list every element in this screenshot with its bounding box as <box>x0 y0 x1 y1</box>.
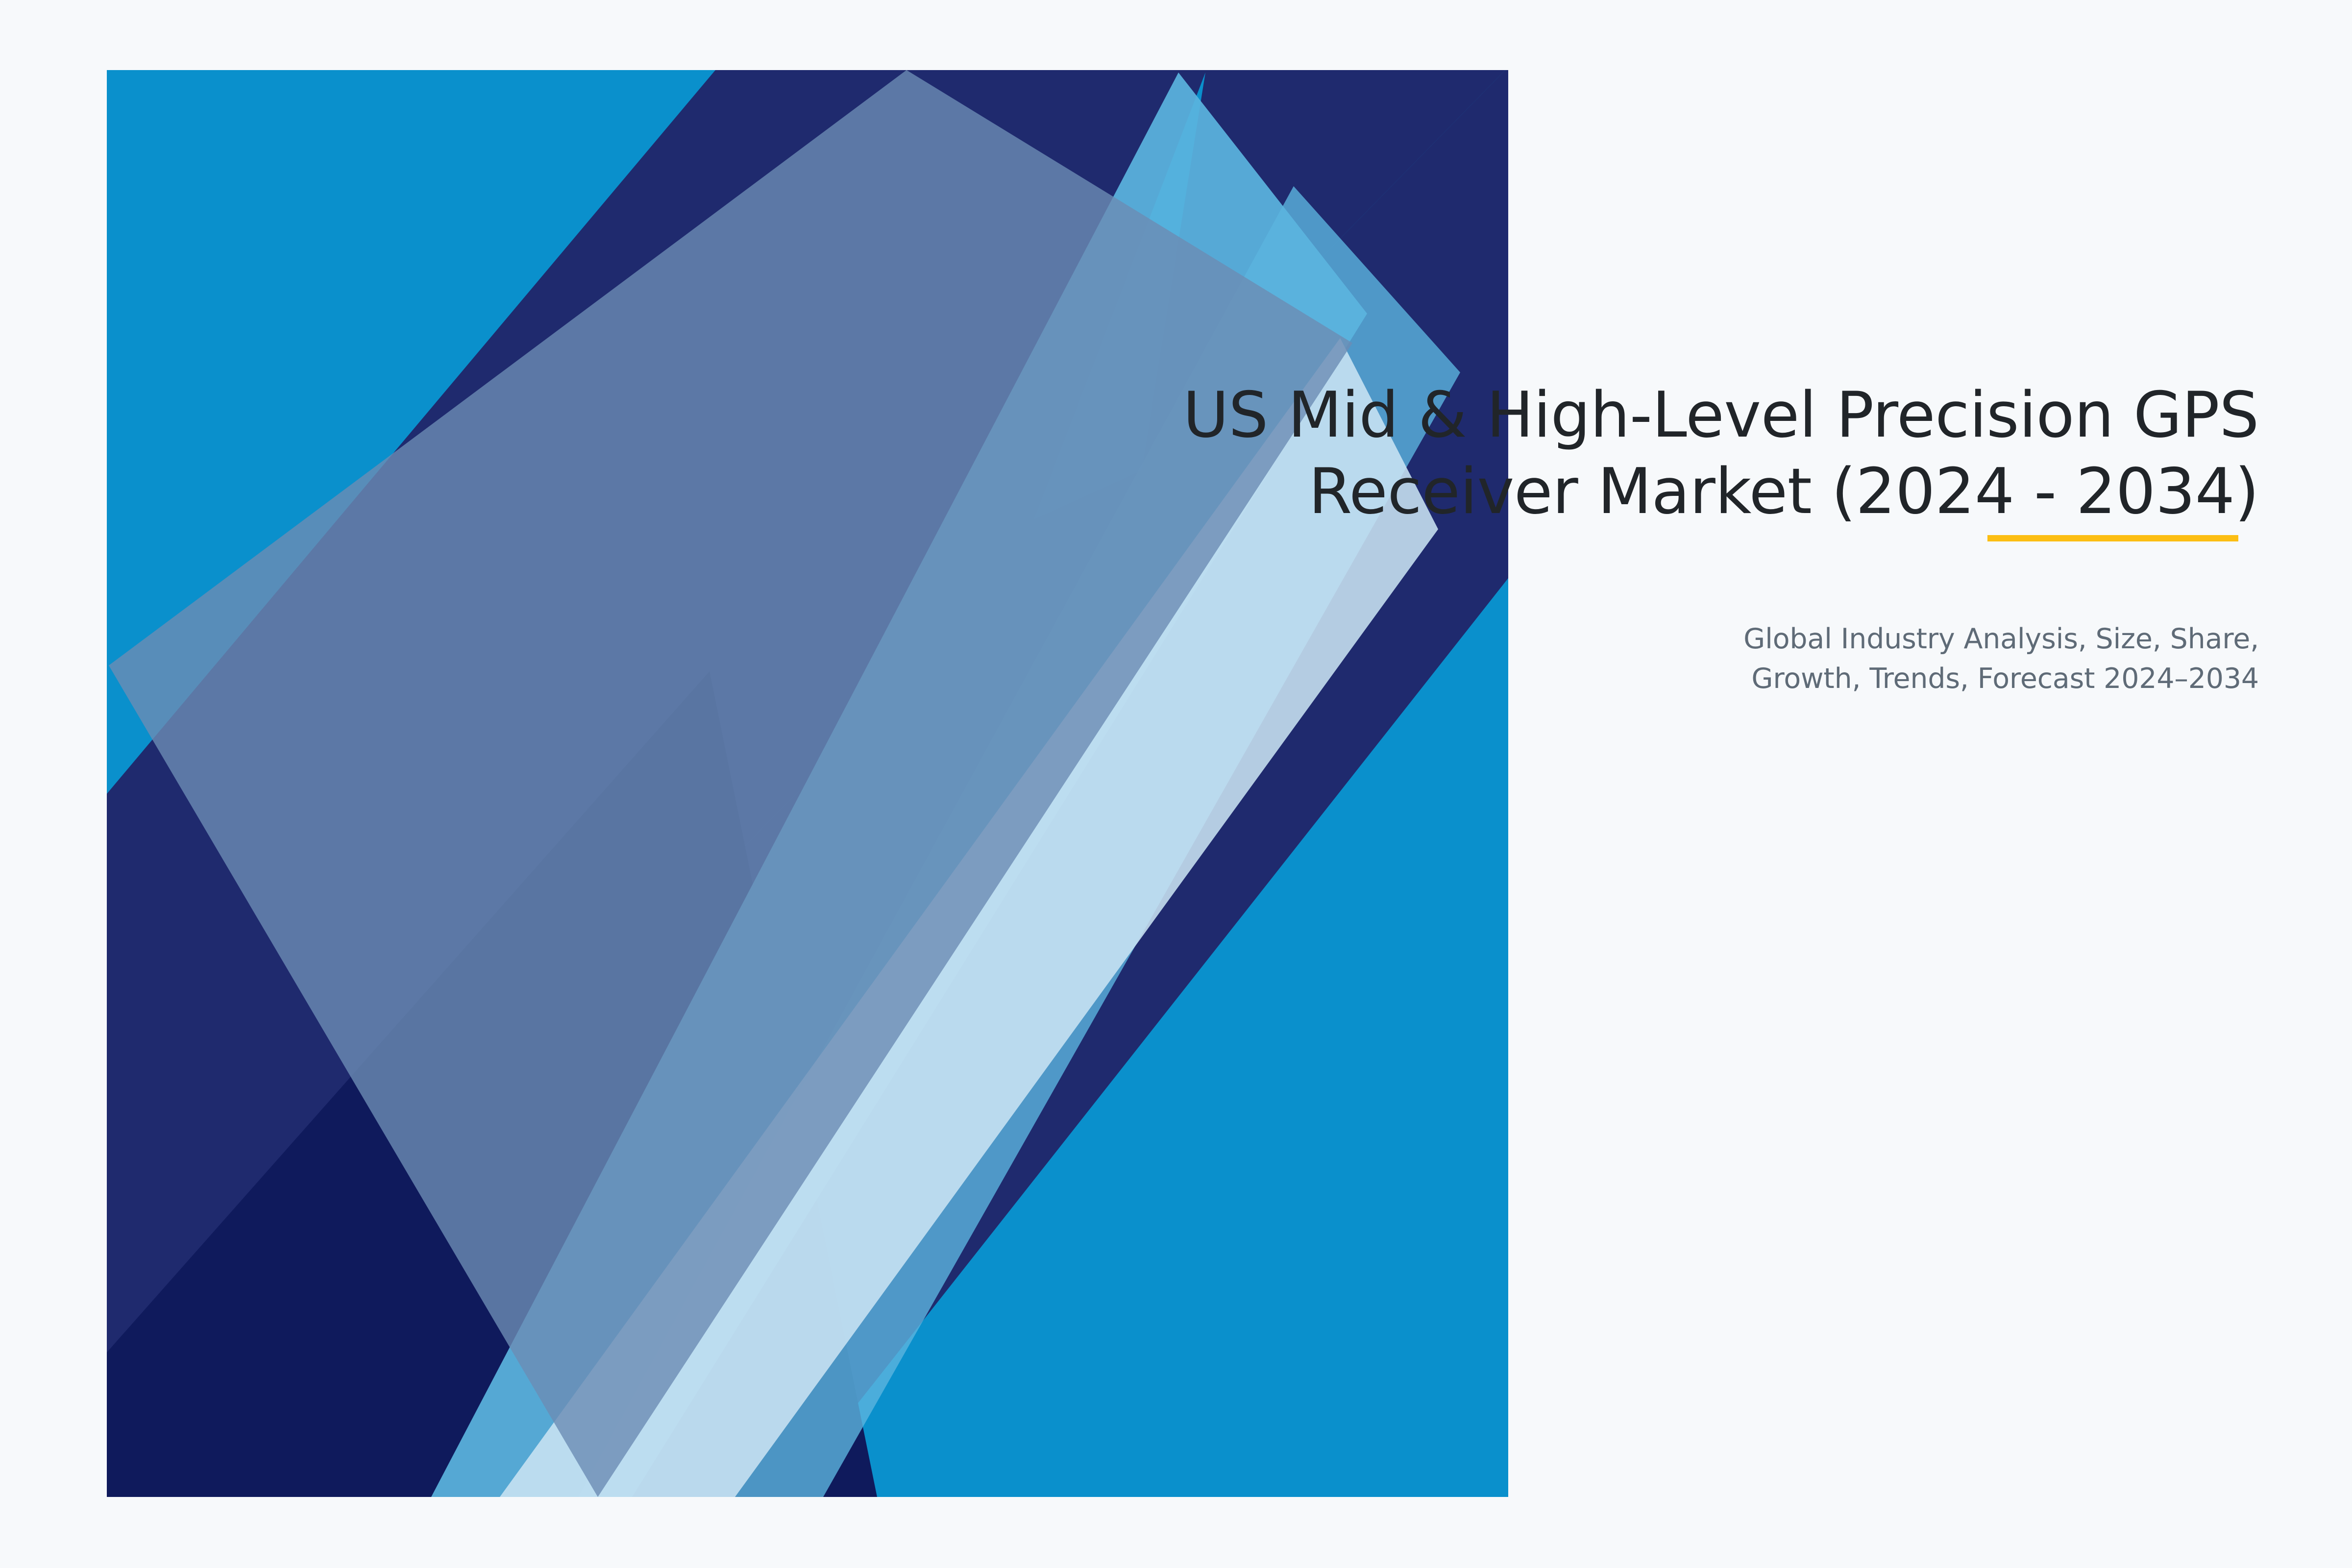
subtitle-line-2: Growth, Trends, Forecast 2024–2034 <box>862 659 2259 699</box>
title-line-2: Receiver Market (2024 - 2034) <box>862 454 2259 530</box>
title-line-1: US Mid & High-Level Precision GPS <box>862 377 2259 454</box>
slide-canvas: US Mid & High-Level Precision GPS Receiv… <box>0 0 2352 1568</box>
title-underline-accent <box>1987 535 2238 541</box>
subtitle-line-1: Global Industry Analysis, Size, Share, <box>862 619 2259 659</box>
page-title: US Mid & High-Level Precision GPS Receiv… <box>862 377 2259 530</box>
page-subtitle: Global Industry Analysis, Size, Share, G… <box>862 619 2259 699</box>
cover-text-block: US Mid & High-Level Precision GPS Receiv… <box>862 377 2259 699</box>
abstract-geometric-cover-graphic <box>0 0 2352 1568</box>
